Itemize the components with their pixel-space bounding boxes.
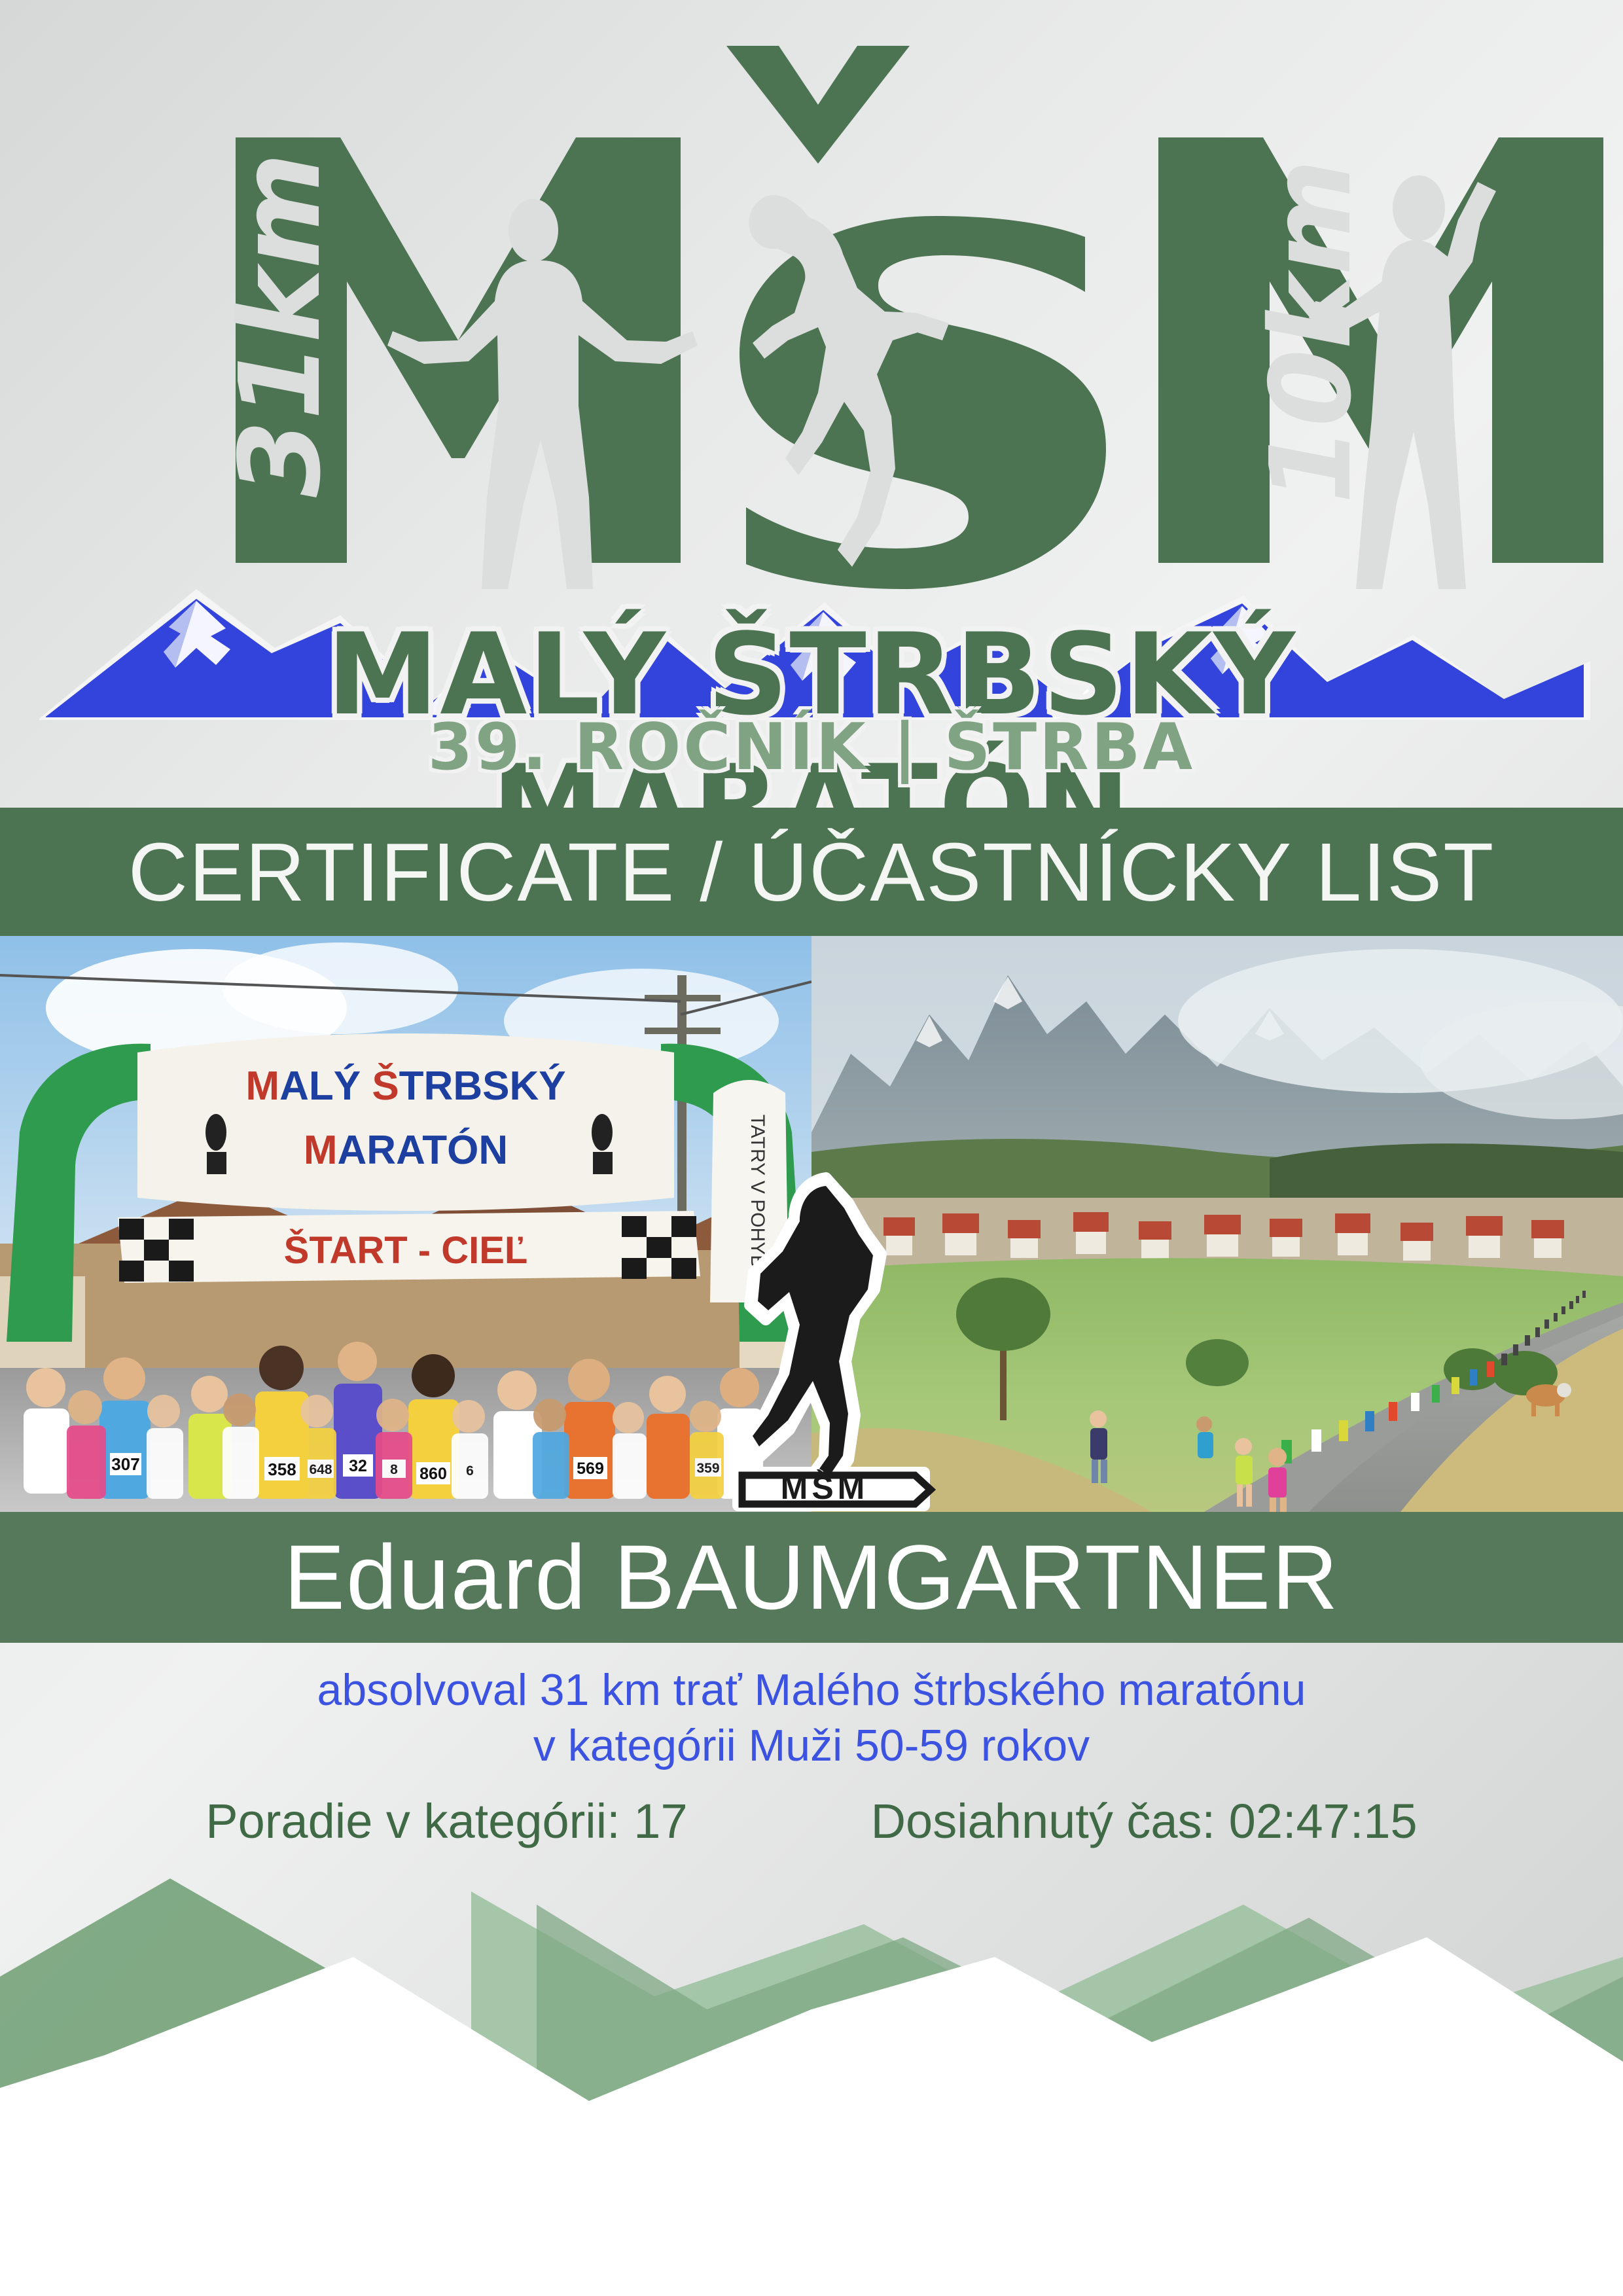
msm-runner-emblem: MŠM xyxy=(726,1165,936,1512)
participant-name-band: Eduard BAUMGARTNER xyxy=(0,1512,1623,1643)
start-line-illustration: MALÝ ŠTRBSKÝ MARATÓN xyxy=(0,936,811,1512)
svg-text:MALÝ ŠTRBSKÝ: MALÝ ŠTRBSKÝ xyxy=(245,1064,565,1109)
footer-mountain-decoration xyxy=(0,1878,1623,2296)
participant-name: Eduard BAUMGARTNER xyxy=(284,1524,1340,1630)
description-line-1: absolvoval 31 km trať Malého štrbského m… xyxy=(0,1662,1623,1718)
event-subtitle: 39. ROČNÍK | ŠTRBA xyxy=(0,710,1623,785)
svg-text:8: 8 xyxy=(390,1462,398,1477)
svg-text:MŠM: MŠM xyxy=(781,1469,869,1506)
logo-distance-left: 31km xyxy=(216,152,346,497)
description-line-2: v kategórii Muži 50-59 rokov xyxy=(0,1718,1623,1774)
footer: Obec Štrba 1947 ŠTRBA ŠPOR xyxy=(0,1878,1623,2296)
svg-text:MARATÓN: MARATÓN xyxy=(304,1128,508,1173)
svg-text:569: 569 xyxy=(577,1460,604,1478)
svg-text:ŠTART - CIEĽ: ŠTART - CIEĽ xyxy=(284,1229,528,1272)
photo-start-line: MALÝ ŠTRBSKÝ MARATÓN xyxy=(0,936,811,1512)
certificate-heading: CERTIFICATE / ÚČASTNÍCKY LIST xyxy=(128,825,1495,920)
certificate-heading-band: CERTIFICATE / ÚČASTNÍCKY LIST xyxy=(0,808,1623,936)
finish-time: Dosiahnutý čas: 02:47:15 xyxy=(871,1793,1418,1849)
logo-distance-right: 10km xyxy=(1247,159,1376,504)
svg-text:359: 359 xyxy=(696,1461,719,1476)
svg-text:860: 860 xyxy=(419,1465,447,1483)
svg-text:6: 6 xyxy=(466,1463,474,1479)
photo-strip: MALÝ ŠTRBSKÝ MARATÓN xyxy=(0,936,1623,1512)
svg-text:358: 358 xyxy=(268,1460,296,1479)
svg-text:648: 648 xyxy=(309,1462,332,1477)
category-rank: Poradie v kategórii: 17 xyxy=(205,1793,687,1849)
participant-description: absolvoval 31 km trať Malého štrbského m… xyxy=(0,1662,1623,1774)
svg-text:307: 307 xyxy=(111,1454,139,1474)
result-row: Poradie v kategórii: 17 Dosiahnutý čas: … xyxy=(0,1793,1623,1849)
svg-text:32: 32 xyxy=(349,1457,367,1475)
certificate-page: 31km 10km MALÝ ŠTRBSKÝ MARATÓN 39. ROČNÍ… xyxy=(0,0,1623,2296)
